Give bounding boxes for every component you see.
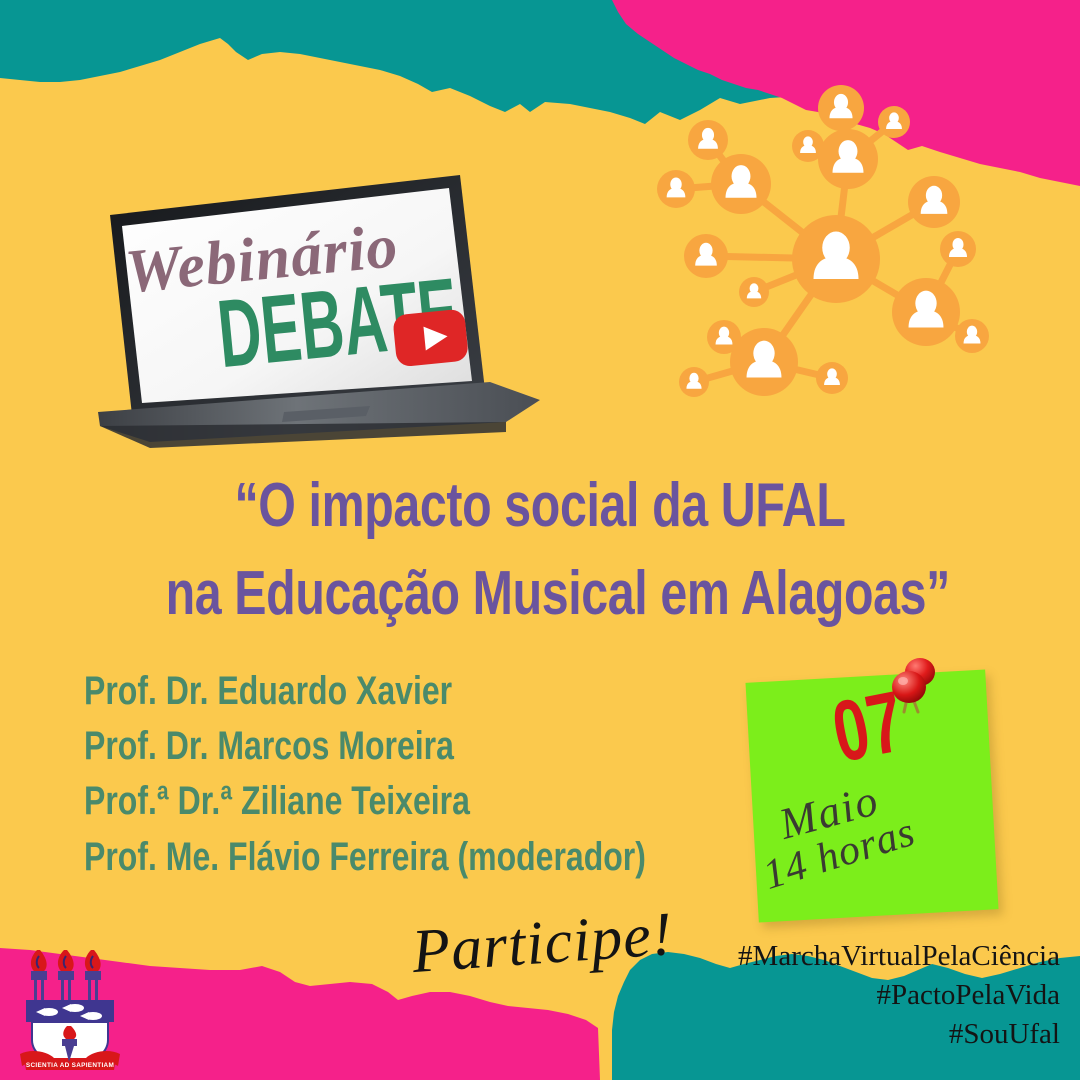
ufal-coat-of-arms: SCIENTIA AD SAPIENTIAM [14, 942, 126, 1074]
date-sticky-note: 07 Maio 14 horas [752, 676, 992, 916]
speaker-item: Prof. Dr. Eduardo Xavier [84, 664, 646, 719]
hashtag-list: #MarchaVirtualPelaCiência #PactoPelaVida… [738, 937, 1060, 1054]
title-line-1: “O impacto social da UFAL [166, 462, 915, 550]
hashtag-item: #PactoPelaVida [738, 976, 1060, 1015]
logo-motto: SCIENTIA AD SAPIENTIAM [26, 1062, 114, 1069]
speaker-item: Prof.ª Dr.ª Ziliane Teixeira [84, 774, 646, 829]
hashtag-item: #MarchaVirtualPelaCiência [738, 937, 1060, 976]
people-network-icon [636, 84, 1036, 434]
speaker-item: Prof. Me. Flávio Ferreira (moderador) [84, 830, 646, 885]
youtube-play-icon [392, 309, 469, 368]
speaker-item: Prof. Dr. Marcos Moreira [84, 719, 646, 774]
page-title: “O impacto social da UFAL na Educação Mu… [166, 462, 915, 638]
laptop-illustration: Webinário DEBATE [70, 160, 590, 460]
speaker-list: Prof. Dr. Eduardo Xavier Prof. Dr. Marco… [84, 664, 646, 885]
sticky-note-paper: 07 Maio 14 horas [745, 669, 998, 922]
poster-canvas: Webinário DEBATE [0, 0, 1080, 1080]
hashtag-item: #SouUfal [738, 1015, 1060, 1054]
title-line-2: na Educação Musical em Alagoas” [166, 550, 915, 638]
pushpin-icon [882, 654, 944, 726]
